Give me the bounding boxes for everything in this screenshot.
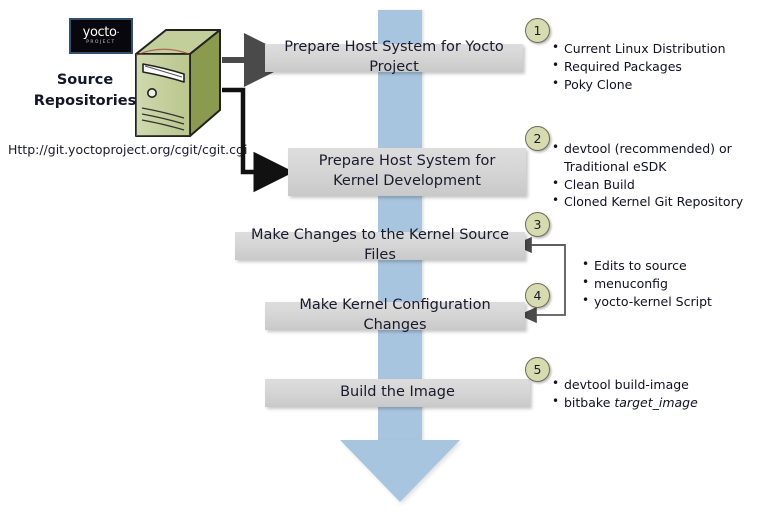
step-box-2[interactable]: Prepare Host System for Kernel Developme… <box>288 148 526 196</box>
step-badge-1: 1 <box>525 18 550 43</box>
step-badge-2-number: 2 <box>534 131 542 146</box>
loop-bullets: Edits to source menuconfig yocto-kernel … <box>582 257 712 310</box>
yocto-logo-text: yocto <box>83 25 117 40</box>
step-1-bullets: Current Linux Distribution Required Pack… <box>552 40 726 93</box>
list-item: Required Packages <box>552 58 726 76</box>
list-item: devtool build-image <box>552 376 698 394</box>
server-tower-icon <box>132 28 224 140</box>
source-label-line1: Source <box>30 70 140 91</box>
step-box-4[interactable]: Make Kernel Configuration Changes <box>265 302 525 330</box>
list-item: Current Linux Distribution <box>552 40 726 58</box>
step-box-4-label: Make Kernel Configuration Changes <box>273 296 517 335</box>
source-repository-url: Http://git.yoctoproject.org/cgit/cgit.cg… <box>8 142 247 157</box>
source-repositories-label: Source Repositories <box>30 70 140 112</box>
list-item: bitbake target_image <box>552 394 698 412</box>
step-box-5[interactable]: Build the Image <box>265 379 530 407</box>
bitbake-prefix: bitbake <box>564 395 614 410</box>
main-flow-arrow-head <box>340 440 460 502</box>
yocto-project-logo: yocto· PROJECT <box>69 18 133 54</box>
list-item: yocto-kernel Script <box>582 293 712 311</box>
step-2-bullets: devtool (recommended) or Traditional eSD… <box>552 140 743 211</box>
bitbake-target-image: target_image <box>614 395 697 410</box>
yocto-logo-dot: · <box>117 28 120 39</box>
step-badge-2: 2 <box>525 126 550 151</box>
step-box-5-label: Build the Image <box>340 383 455 403</box>
step-box-2-label: Prepare Host System for Kernel Developme… <box>296 152 518 191</box>
list-item: menuconfig <box>582 275 712 293</box>
step-5-bullets: devtool build-image bitbake target_image <box>552 376 698 412</box>
step-box-3-label: Make Changes to the Kernel Source Files <box>243 226 517 265</box>
step-badge-3-number: 3 <box>534 217 542 232</box>
list-item: devtool (recommended) or Traditional eSD… <box>552 140 732 176</box>
yocto-logo-wordmark: yocto· <box>83 26 120 39</box>
step-badge-1-number: 1 <box>534 23 542 38</box>
step-box-3[interactable]: Make Changes to the Kernel Source Files <box>235 232 525 260</box>
list-item: Clean Build <box>552 176 743 194</box>
step-badge-5-number: 5 <box>534 362 542 377</box>
step-badge-4-number: 4 <box>534 288 542 303</box>
list-item: Edits to source <box>582 257 712 275</box>
list-item: Cloned Kernel Git Repository <box>552 193 743 211</box>
step-box-1[interactable]: Prepare Host System for Yocto Project <box>265 44 523 72</box>
diagram-canvas: yocto· PROJECT <box>0 0 769 517</box>
step-box-1-label: Prepare Host System for Yocto Project <box>273 38 515 77</box>
step-badge-4: 4 <box>525 283 550 308</box>
step-badge-3: 3 <box>525 212 550 237</box>
list-item: Poky Clone <box>552 76 726 94</box>
yocto-logo-subtext: PROJECT <box>86 41 115 45</box>
step-badge-5: 5 <box>525 357 550 382</box>
source-label-line2: Repositories <box>30 91 140 112</box>
